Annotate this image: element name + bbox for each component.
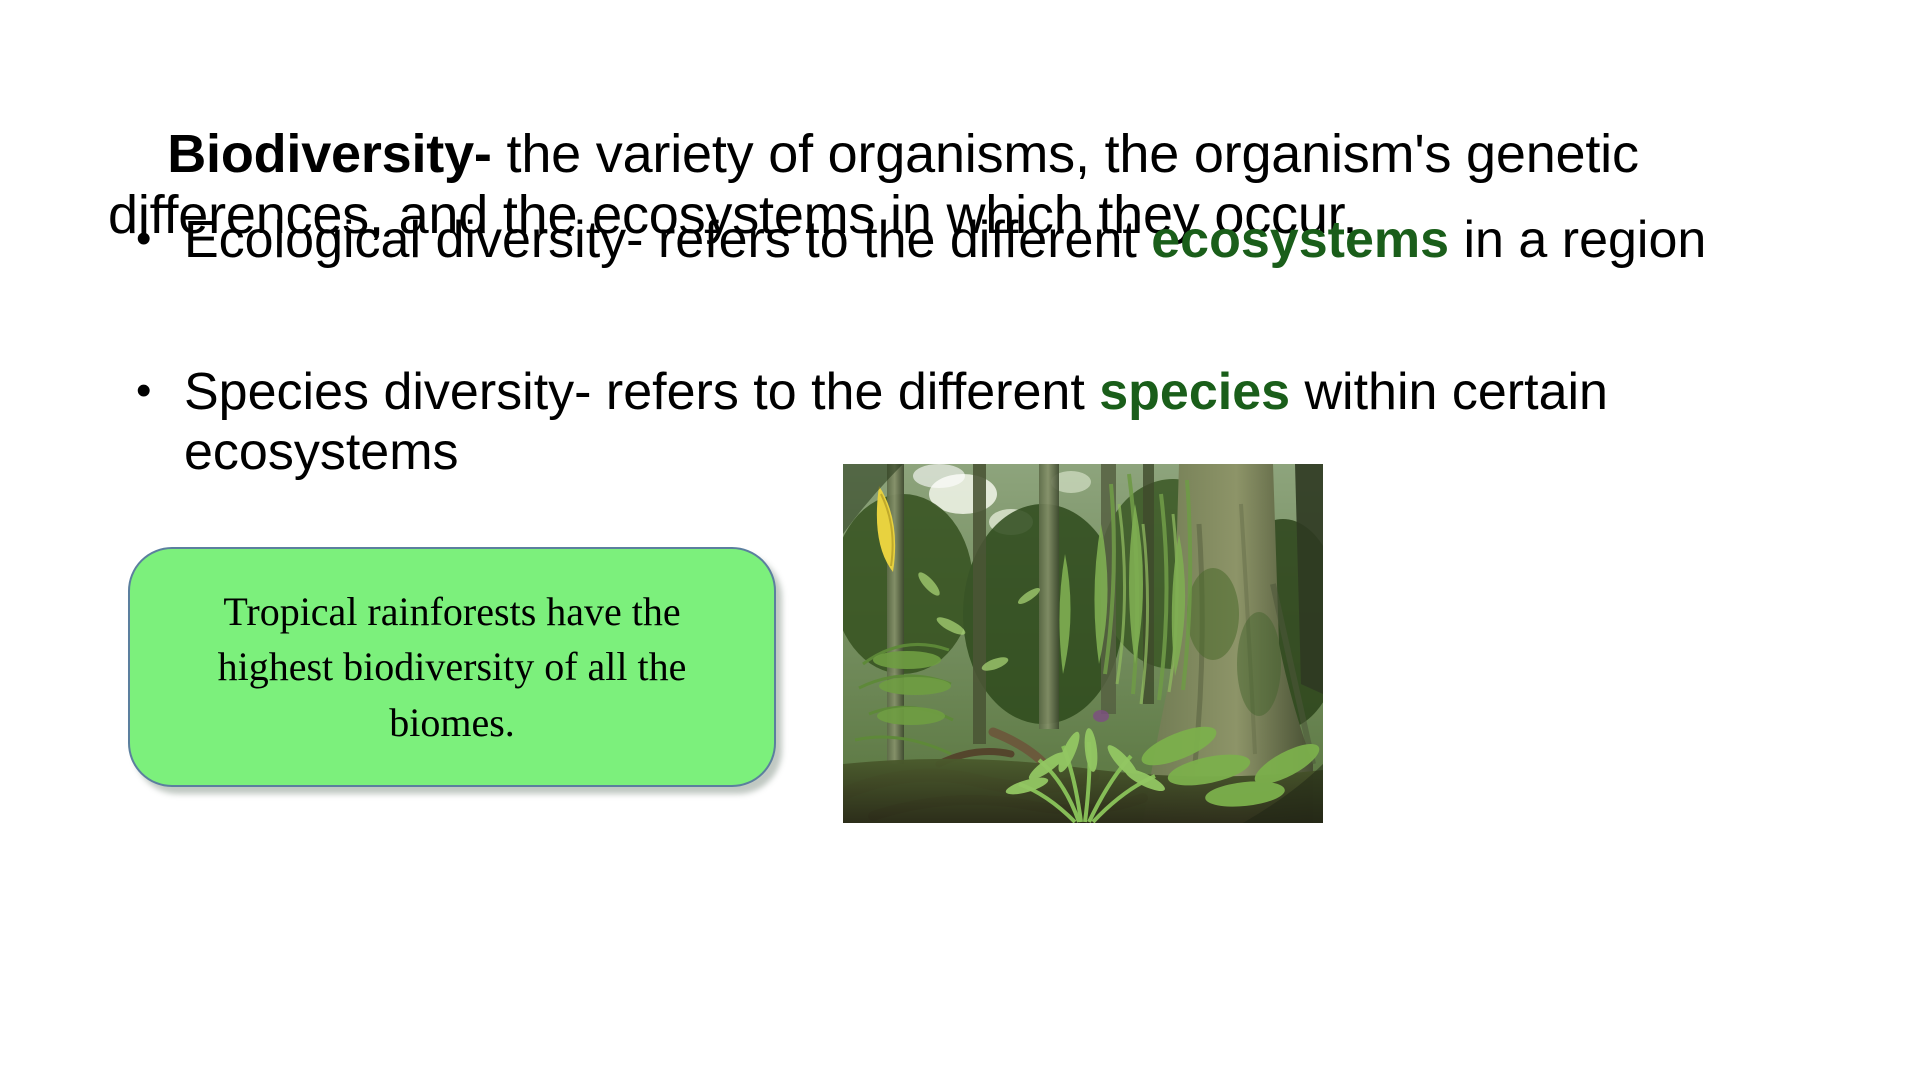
callout-shape: Tropical rainforests have the highest bi… [128,547,776,787]
rainforest-illustration [843,464,1323,823]
heading-term: Biodiversity- [167,124,492,184]
list-item: • Ecological diversity- refers to the di… [136,210,1876,270]
bullet-text: Ecological diversity- refers to the diff… [184,210,1876,270]
callout-box: Tropical rainforests have the highest bi… [128,547,776,787]
rainforest-photo [843,464,1323,823]
bullet-text-part1: Ecological diversity- refers to the diff… [184,211,1151,269]
bullet-marker-icon: • [136,362,184,419]
slide-canvas: Biodiversity- the variety of organisms, … [0,0,1920,1080]
bullet-highlight-ecosystems: ecosystems [1151,211,1449,269]
bullet-marker-icon: • [136,210,184,267]
bullet-highlight-species: species [1099,363,1290,421]
bullet-text-part1: Species diversity- refers to the differe… [184,363,1099,421]
callout-text: Tropical rainforests have the highest bi… [184,584,720,750]
page-title: Biodiversity- the variety of organisms, … [108,62,1868,308]
bullet-text-part2: in a region [1449,211,1706,269]
